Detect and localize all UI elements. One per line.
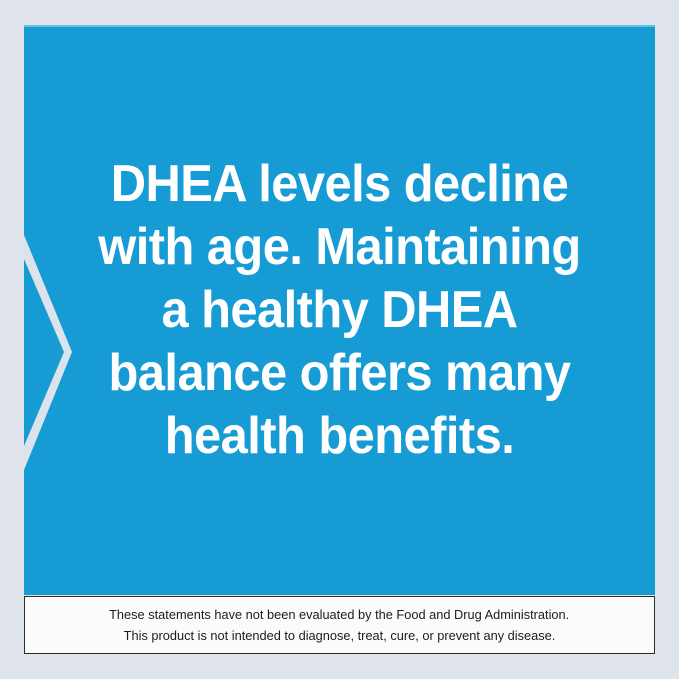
headline-line-2: with age. Maintaining [86, 216, 593, 279]
headline-line-4: balance offers many [86, 342, 593, 405]
headline-line-3: a healthy DHEA [86, 279, 593, 342]
disclaimer-line-1: These statements have not been evaluated… [109, 604, 569, 625]
disclaimer-line-2: This product is not intended to diagnose… [124, 625, 556, 646]
product-infographic-page: DHEA levels decline with age. Maintainin… [0, 0, 679, 679]
headline-line-1: DHEA levels decline [86, 153, 593, 216]
hero-blue-card: DHEA levels decline with age. Maintainin… [24, 25, 655, 595]
headline-line-5: health benefits. [86, 405, 593, 468]
headline: DHEA levels decline with age. Maintainin… [43, 153, 636, 468]
fda-disclaimer-box: These statements have not been evaluated… [24, 596, 655, 654]
